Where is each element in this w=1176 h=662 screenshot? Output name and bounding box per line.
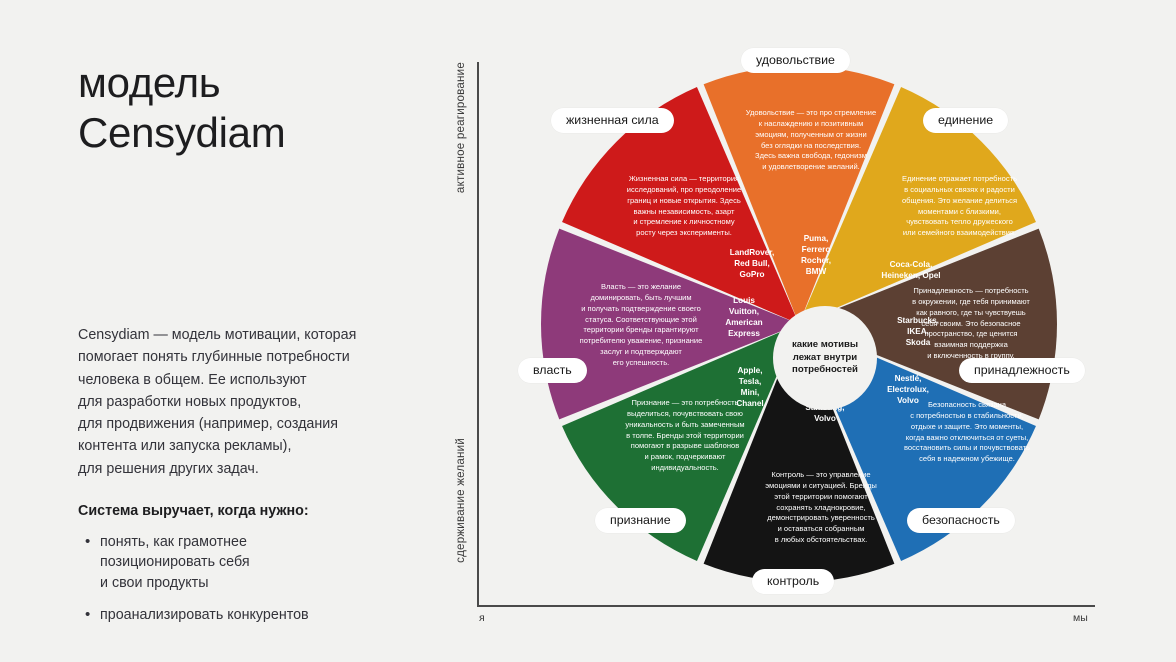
description-block: Censydiam — модель мотивации, которая по… [78,324,398,636]
page-title: модель Censydiam [78,58,418,157]
wheel-hub: какие мотивы лежат внутри потребностей [773,306,877,410]
axis-label-active-reaction: активное реагирование [454,62,467,193]
axis-label-desire-restraint: сдерживание желаний [454,438,467,563]
segment-label-belonging[interactable]: принадлежность [959,358,1085,383]
segment-label-safety[interactable]: безопасность [907,508,1015,533]
hub-label: какие мотивы лежат внутри потребностей [792,339,858,377]
segment-label-vitality[interactable]: жизненная сила [551,108,674,133]
segment-label-control[interactable]: контроль [752,569,834,594]
axis-label-we: мы [1073,612,1088,624]
benefits-list: понять, как грамотнее позиционировать се… [78,532,398,626]
left-column: модель Censydiam [78,58,418,157]
wheel-segments: Удовольствие — это про стремление к насл… [539,64,1059,584]
segment-label-pleasure[interactable]: удовольствие [741,48,850,73]
list-item: проанализировать конкурентов [78,605,398,626]
axis-label-me: я [479,612,819,624]
intro-paragraph: Censydiam — модель мотивации, которая по… [78,324,398,480]
vertical-axis-line [477,62,479,605]
horizontal-axis-line [477,605,1095,607]
slide-root: модель Censydiam Censydiam — модель моти… [0,0,1176,662]
segment-label-power[interactable]: власть [518,358,587,383]
segment-label-unity[interactable]: единение [923,108,1008,133]
segment-label-recognition[interactable]: признание [595,508,686,533]
system-heading: Система выручает, когда нужно: [78,501,398,522]
censydiam-wheel: Удовольствие — это про стремление к насл… [519,48,1079,588]
list-item: понять, как грамотнее позиционировать се… [78,532,398,594]
